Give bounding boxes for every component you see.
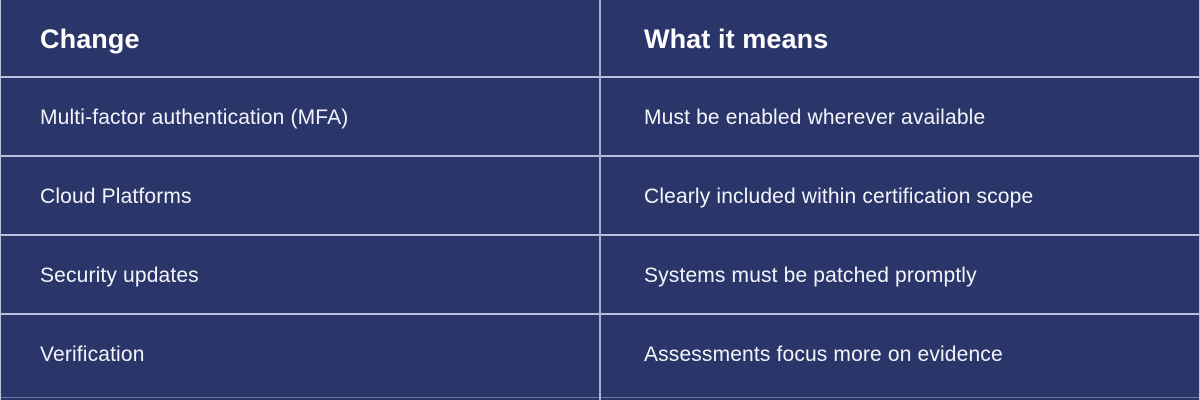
table-cell-meaning: Assessments focus more on evidence [600,315,1199,394]
cell-text-meaning: Clearly included within certification sc… [644,183,1033,210]
table-cell-change: Cloud Platforms [1,157,600,236]
cell-text-change: Security updates [40,262,199,289]
table-cell-meaning: Clearly included within certification sc… [600,157,1199,236]
cell-text-change: Cloud Platforms [40,183,192,210]
table-header-cell-change: Change [1,0,600,78]
table-cell-change: Verification [1,315,600,394]
cell-text-meaning: Assessments focus more on evidence [644,341,1003,368]
cell-text-meaning: Systems must be patched promptly [644,262,977,289]
column-header-meaning: What it means [644,23,828,55]
cell-text-change: Multi-factor authentication (MFA) [40,104,348,131]
cell-text-meaning: Must be enabled wherever available [644,104,985,131]
table-cell-meaning: Systems must be patched promptly [600,236,1199,315]
comparison-table: Change What it means Multi-factor authen… [0,0,1200,400]
cell-text-change: Verification [40,341,145,368]
table-cell-meaning: Must be enabled wherever available [600,78,1199,157]
table-cell-change: Security updates [1,236,600,315]
table-header-cell-meaning: What it means [600,0,1199,78]
column-divider [599,0,601,400]
column-header-change: Change [40,23,140,55]
table-cell-change: Multi-factor authentication (MFA) [1,78,600,157]
